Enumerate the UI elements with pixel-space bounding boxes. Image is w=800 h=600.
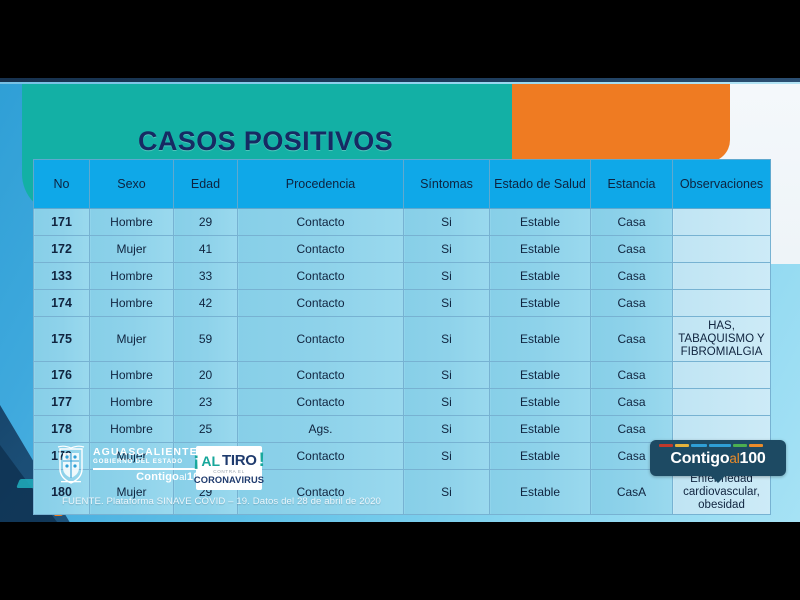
cell-no: 176 bbox=[34, 362, 90, 389]
cell-sintomas: Si bbox=[404, 209, 490, 236]
cell-edad: 29 bbox=[174, 209, 238, 236]
altiro-bottom: CORONAVIRUS bbox=[194, 475, 264, 485]
cell-sexo: Hombre bbox=[90, 209, 174, 236]
gob-line-2: GOBIERNO DEL ESTADO bbox=[93, 459, 206, 465]
cell-estancia: Casa bbox=[591, 236, 673, 263]
cell-estancia: Casa bbox=[591, 416, 673, 443]
cell-sexo: Mujer bbox=[90, 236, 174, 263]
cell-edad: 41 bbox=[174, 236, 238, 263]
cell-estancia: Casa bbox=[591, 389, 673, 416]
cell-edad: 42 bbox=[174, 290, 238, 317]
gob-brand-contigo: Contigo bbox=[136, 471, 179, 483]
cell-procedencia: Contacto bbox=[238, 236, 404, 263]
badge-stripe bbox=[659, 444, 673, 447]
cell-edad: 23 bbox=[174, 389, 238, 416]
contigo-al-100-badge: Contigoal100 bbox=[650, 440, 786, 476]
cell-estancia: Casa bbox=[591, 317, 673, 362]
cell-procedencia: Contacto bbox=[238, 317, 404, 362]
table-row: 175Mujer59ContactoSiEstableCasaHAS, TABA… bbox=[34, 317, 771, 362]
table-header-row: No Sexo Edad Procedencia Síntomas Estado… bbox=[34, 160, 771, 209]
orange-accent-block bbox=[490, 84, 730, 162]
cell-sexo: Mujer bbox=[90, 317, 174, 362]
gob-brand: Contigoal100 bbox=[93, 472, 206, 483]
presentation-slide: CASOS POSITIVOS No Sexo Edad Procedencia… bbox=[0, 78, 800, 522]
altiro-logo: ¡ AL TIRO ! CONTRA EL CORONAVIRUS bbox=[196, 446, 262, 490]
badge-stripe bbox=[749, 444, 763, 447]
badge-100: 100 bbox=[740, 450, 766, 467]
column-header-edad: Edad bbox=[174, 160, 238, 209]
altiro-al: AL bbox=[201, 454, 220, 468]
badge-contigo: Contigo bbox=[670, 450, 729, 467]
column-header-no: No bbox=[34, 160, 90, 209]
table-row: 172Mujer41ContactoSiEstableCasa bbox=[34, 236, 771, 263]
gob-divider bbox=[93, 468, 206, 470]
cell-estado: Estable bbox=[490, 389, 591, 416]
cell-no: 174 bbox=[34, 290, 90, 317]
page-title: CASOS POSITIVOS bbox=[138, 126, 393, 157]
slide-footer: AGUASCALIENTES GOBIERNO DEL ESTADO Conti… bbox=[0, 446, 800, 522]
cell-procedencia: Contacto bbox=[238, 209, 404, 236]
column-header-estado-salud: Estado de Salud bbox=[490, 160, 591, 209]
cell-no: 172 bbox=[34, 236, 90, 263]
cell-sintomas: Si bbox=[404, 263, 490, 290]
cell-sexo: Hombre bbox=[90, 416, 174, 443]
cell-estado: Estable bbox=[490, 362, 591, 389]
cell-sintomas: Si bbox=[404, 389, 490, 416]
cell-observaciones bbox=[673, 263, 771, 290]
cell-no: 177 bbox=[34, 389, 90, 416]
aguascalientes-logo-text: AGUASCALIENTES GOBIERNO DEL ESTADO Conti… bbox=[93, 447, 206, 482]
cell-estancia: Casa bbox=[591, 263, 673, 290]
column-header-procedencia: Procedencia bbox=[238, 160, 404, 209]
badge-stripe bbox=[709, 444, 731, 447]
table-row: 133Hombre33ContactoSiEstableCasa bbox=[34, 263, 771, 290]
column-header-sexo: Sexo bbox=[90, 160, 174, 209]
table-row: 176Hombre20ContactoSiEstableCasa bbox=[34, 362, 771, 389]
cell-observaciones bbox=[673, 236, 771, 263]
cell-no: 178 bbox=[34, 416, 90, 443]
cell-estancia: Casa bbox=[591, 290, 673, 317]
cell-observaciones bbox=[673, 209, 771, 236]
cell-edad: 59 bbox=[174, 317, 238, 362]
cell-estado: Estable bbox=[490, 416, 591, 443]
cell-procedencia: Contacto bbox=[238, 263, 404, 290]
cell-sintomas: Si bbox=[404, 236, 490, 263]
column-header-estancia: Estancia bbox=[591, 160, 673, 209]
cell-observaciones bbox=[673, 416, 771, 443]
cell-sintomas: Si bbox=[404, 416, 490, 443]
badge-stripe bbox=[675, 444, 689, 447]
screenshot-stage: CASOS POSITIVOS No Sexo Edad Procedencia… bbox=[0, 0, 800, 600]
cell-sintomas: Si bbox=[404, 362, 490, 389]
column-header-sintomas: Síntomas bbox=[404, 160, 490, 209]
cell-no: 171 bbox=[34, 209, 90, 236]
cell-edad: 33 bbox=[174, 263, 238, 290]
cell-sintomas: Si bbox=[404, 290, 490, 317]
cell-procedencia: Contacto bbox=[238, 290, 404, 317]
altiro-mid: CONTRA EL bbox=[213, 469, 244, 474]
cell-estado: Estable bbox=[490, 236, 591, 263]
aguascalientes-logo: AGUASCALIENTES GOBIERNO DEL ESTADO Conti… bbox=[56, 445, 206, 485]
cell-estancia: Casa bbox=[591, 362, 673, 389]
table-row: 171Hombre29ContactoSiEstableCasa bbox=[34, 209, 771, 236]
cell-sexo: Hombre bbox=[90, 263, 174, 290]
cell-procedencia: Contacto bbox=[238, 362, 404, 389]
table-row: 177Hombre23ContactoSiEstableCasa bbox=[34, 389, 771, 416]
altiro-bracket-right: ! bbox=[259, 451, 265, 470]
cell-sexo: Hombre bbox=[90, 389, 174, 416]
cell-edad: 20 bbox=[174, 362, 238, 389]
cell-procedencia: Contacto bbox=[238, 389, 404, 416]
cell-procedencia: Ags. bbox=[238, 416, 404, 443]
cell-observaciones: HAS, TABAQUISMO Y FIBROMIALGIA bbox=[673, 317, 771, 362]
cell-observaciones bbox=[673, 389, 771, 416]
altiro-tiro: TIRO bbox=[222, 453, 257, 468]
source-note: FUENTE. Plataforma SINAVE COVID – 19. Da… bbox=[62, 496, 381, 507]
cell-edad: 25 bbox=[174, 416, 238, 443]
table-row: 178Hombre25Ags.SiEstableCasa bbox=[34, 416, 771, 443]
cell-estado: Estable bbox=[490, 263, 591, 290]
cell-no: 133 bbox=[34, 263, 90, 290]
badge-text: Contigoal100 bbox=[650, 450, 786, 468]
table-row: 174Hombre42ContactoSiEstableCasa bbox=[34, 290, 771, 317]
cell-no: 175 bbox=[34, 317, 90, 362]
cell-sexo: Hombre bbox=[90, 290, 174, 317]
badge-stripes bbox=[659, 444, 763, 447]
cell-sexo: Hombre bbox=[90, 362, 174, 389]
cell-estado: Estable bbox=[490, 317, 591, 362]
table-head: No Sexo Edad Procedencia Síntomas Estado… bbox=[34, 160, 771, 209]
cell-sintomas: Si bbox=[404, 317, 490, 362]
cell-observaciones bbox=[673, 362, 771, 389]
cell-estado: Estable bbox=[490, 290, 591, 317]
cell-observaciones bbox=[673, 290, 771, 317]
altiro-top-row: ¡ AL TIRO ! bbox=[193, 451, 265, 470]
badge-stripe bbox=[733, 444, 747, 447]
cell-estado: Estable bbox=[490, 209, 591, 236]
gob-line-1: AGUASCALIENTES bbox=[93, 447, 206, 458]
cell-estancia: Casa bbox=[591, 209, 673, 236]
coat-of-arms-icon bbox=[56, 445, 86, 485]
column-header-observaciones: Observaciones bbox=[673, 160, 771, 209]
badge-stripe bbox=[691, 444, 707, 447]
altiro-bracket-left: ¡ bbox=[193, 451, 199, 470]
badge-al: al bbox=[729, 451, 739, 466]
gob-brand-al: al bbox=[179, 472, 187, 483]
